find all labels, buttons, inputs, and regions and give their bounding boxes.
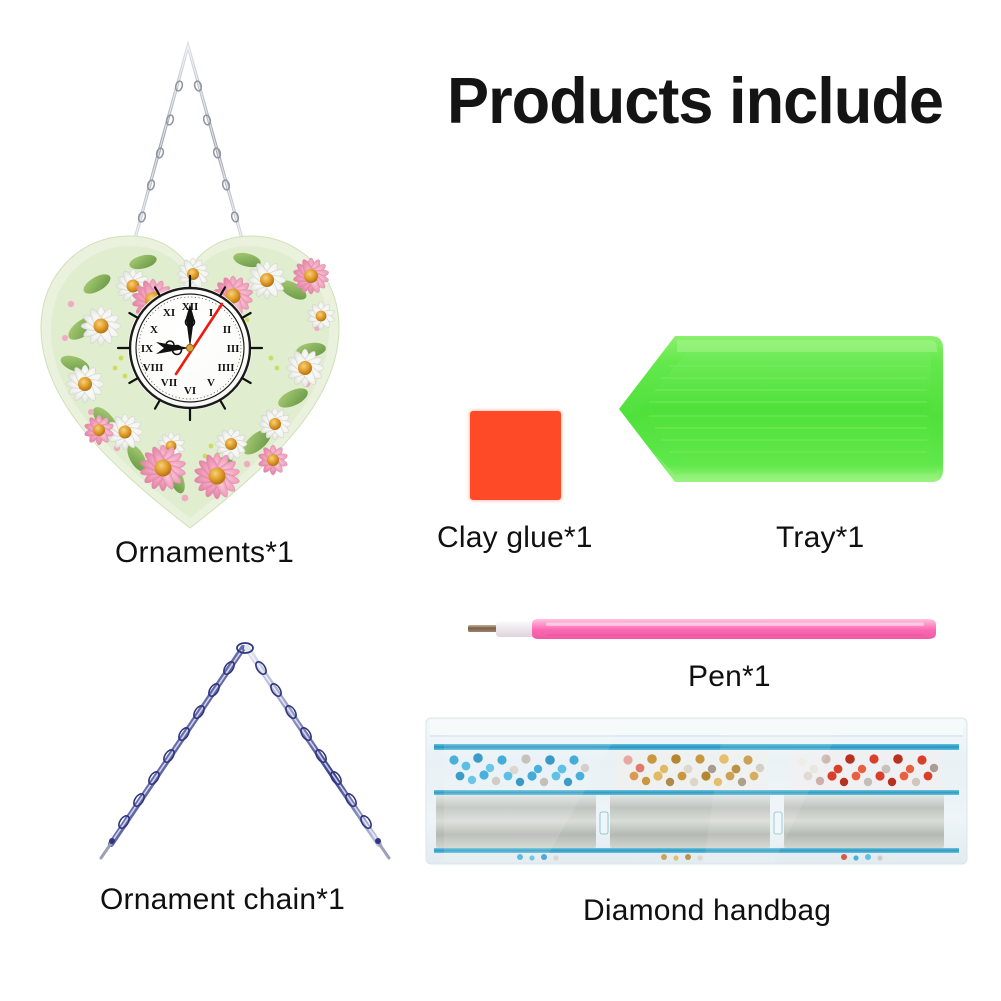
diamond-handbag-icon xyxy=(424,712,969,869)
svg-text:XI: XI xyxy=(163,307,175,319)
page-title: Products include xyxy=(447,63,943,138)
svg-text:X: X xyxy=(150,324,158,336)
hanging-chain xyxy=(133,46,244,246)
ornament-heart-clock-icon: XII I II III IIII V VI VII VIII IX X XI xyxy=(25,28,355,538)
svg-text:II: II xyxy=(223,324,232,336)
tray-icon xyxy=(613,322,951,496)
svg-text:VIII: VIII xyxy=(143,362,164,374)
clay-glue-icon xyxy=(470,411,561,500)
svg-text:IX: IX xyxy=(141,343,153,355)
svg-text:VI: VI xyxy=(184,385,196,397)
svg-text:IIII: IIII xyxy=(217,362,234,374)
svg-text:VII: VII xyxy=(161,377,178,389)
tray-label: Tray*1 xyxy=(776,521,864,555)
ornament-label: Ornaments*1 xyxy=(115,536,294,570)
ornament-chain-label: Ornament chain*1 xyxy=(100,883,345,917)
diamond-handbag-label: Diamond handbag xyxy=(583,894,831,928)
product-contents-image: Products include xyxy=(0,0,1001,1001)
pen-label: Pen*1 xyxy=(688,660,771,694)
pen-icon xyxy=(466,612,941,646)
svg-text:V: V xyxy=(207,377,215,389)
ornament-chain-icon xyxy=(95,630,395,870)
svg-text:III: III xyxy=(227,343,240,355)
clay-glue-label: Clay glue*1 xyxy=(437,521,593,555)
